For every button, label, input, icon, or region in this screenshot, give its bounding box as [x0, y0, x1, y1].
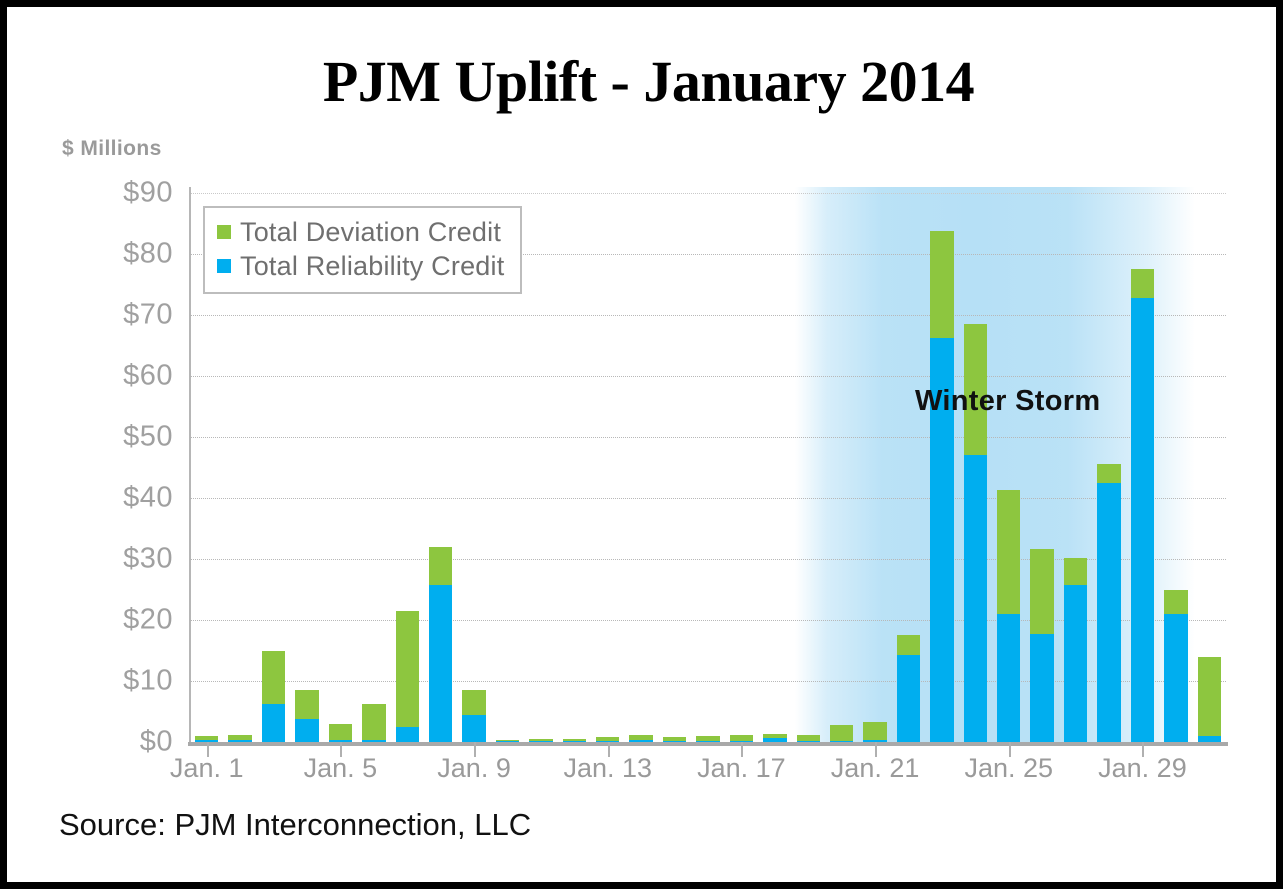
bar-segment-reliability-credit	[964, 455, 987, 742]
bar-group	[429, 547, 452, 742]
bar-group	[1064, 558, 1087, 742]
bar-segment-reliability-credit	[295, 719, 318, 742]
bar-segment-deviation-credit	[997, 490, 1020, 614]
x-axis-tick-label: Jan. 21	[831, 753, 920, 784]
bar-group	[228, 735, 251, 742]
bar-segment-deviation-credit	[897, 635, 920, 655]
y-axis-tick-label: $10	[55, 665, 173, 698]
bar-segment-deviation-credit	[863, 722, 886, 740]
x-axis-tick-label: Jan. 1	[170, 753, 244, 784]
bar-group	[1030, 549, 1053, 742]
legend-item: Total Reliability Credit	[217, 249, 504, 283]
bar-segment-deviation-credit	[429, 547, 452, 585]
bar-segment-deviation-credit	[1030, 549, 1053, 634]
bar-segment-deviation-credit	[362, 704, 385, 740]
chart-legend: Total Deviation CreditTotal Reliability …	[203, 206, 522, 294]
bar-segment-deviation-credit	[1198, 657, 1221, 736]
bar-segment-deviation-credit	[329, 724, 352, 740]
y-axis-tick-label: $50	[55, 421, 173, 454]
bar-group	[997, 490, 1020, 742]
bar-segment-deviation-credit	[295, 690, 318, 719]
bar-group	[1131, 269, 1154, 742]
winter-storm-annotation: Winter Storm	[915, 385, 1100, 418]
bar-segment-deviation-credit	[1131, 269, 1154, 298]
y-axis-tick-label: $90	[55, 177, 173, 210]
legend-swatch-icon	[217, 259, 231, 273]
bar-segment-deviation-credit	[930, 231, 953, 338]
bar-segment-deviation-credit	[262, 651, 285, 704]
legend-item-label: Total Deviation Credit	[240, 217, 501, 248]
y-axis-tick-label: $60	[55, 360, 173, 393]
bar-group	[362, 704, 385, 742]
bar-group	[863, 722, 886, 742]
legend-item-label: Total Reliability Credit	[240, 251, 504, 282]
page-title: PJM Uplift - January 2014	[7, 53, 1283, 111]
bar-group	[262, 651, 285, 742]
legend-item: Total Deviation Credit	[217, 215, 504, 249]
bar-group	[897, 635, 920, 742]
y-axis-tick-label: $40	[55, 482, 173, 515]
x-axis-tick-label: Jan. 17	[697, 753, 786, 784]
bar-group	[763, 734, 786, 742]
bar-segment-reliability-credit	[1164, 614, 1187, 742]
y-axis-tick-label: $20	[55, 604, 173, 637]
bar-segment-reliability-credit	[1097, 483, 1120, 742]
bar-segment-reliability-credit	[396, 727, 419, 742]
bar-group	[930, 231, 953, 742]
y-axis-tick-label: $0	[55, 726, 173, 759]
bar-segment-reliability-credit	[1064, 585, 1087, 742]
bar-segment-deviation-credit	[1097, 464, 1120, 482]
gridline	[190, 437, 1226, 438]
bar-group	[295, 690, 318, 742]
bar-segment-deviation-credit	[462, 690, 485, 715]
x-axis-tick-label: Jan. 9	[437, 753, 511, 784]
bar-segment-deviation-credit	[1164, 590, 1187, 614]
source-note: Source: PJM Interconnection, LLC	[59, 807, 531, 843]
gridline	[190, 376, 1226, 377]
bar-group	[797, 735, 820, 742]
x-axis-line	[188, 742, 1228, 746]
x-axis-tick-label: Jan. 25	[964, 753, 1053, 784]
y-axis-line	[189, 187, 191, 742]
gridline	[190, 193, 1226, 194]
bar-group	[1164, 590, 1187, 743]
bar-segment-reliability-credit	[1030, 634, 1053, 742]
bar-segment-reliability-credit	[897, 655, 920, 742]
bar-group	[396, 611, 419, 742]
bar-segment-reliability-credit	[429, 585, 452, 742]
gridline	[190, 498, 1226, 499]
gridline	[190, 315, 1226, 316]
bar-segment-reliability-credit	[1131, 298, 1154, 742]
legend-swatch-icon	[217, 225, 231, 239]
y-axis-unit-label: $ Millions	[62, 137, 162, 161]
bar-group	[1097, 464, 1120, 742]
bar-segment-reliability-credit	[262, 704, 285, 742]
x-axis-tick-label: Jan. 29	[1098, 753, 1187, 784]
x-axis-tick-label: Jan. 13	[563, 753, 652, 784]
bar-segment-reliability-credit	[997, 614, 1020, 742]
x-axis-tick-label: Jan. 5	[304, 753, 378, 784]
bar-group	[329, 724, 352, 742]
bar-segment-deviation-credit	[830, 725, 853, 741]
bar-group	[462, 690, 485, 742]
y-axis-tick-label: $80	[55, 238, 173, 271]
bar-segment-deviation-credit	[396, 611, 419, 727]
bar-group	[1198, 657, 1221, 742]
chart-figure: PJM Uplift - January 2014 $ Millions $0$…	[0, 0, 1283, 889]
bar-group	[629, 735, 652, 742]
bar-group	[830, 725, 853, 742]
bar-group	[730, 735, 753, 742]
y-axis-tick-label: $70	[55, 299, 173, 332]
y-axis-tick-label: $30	[55, 543, 173, 576]
bar-segment-deviation-credit	[1064, 558, 1087, 585]
bar-segment-reliability-credit	[462, 715, 485, 742]
